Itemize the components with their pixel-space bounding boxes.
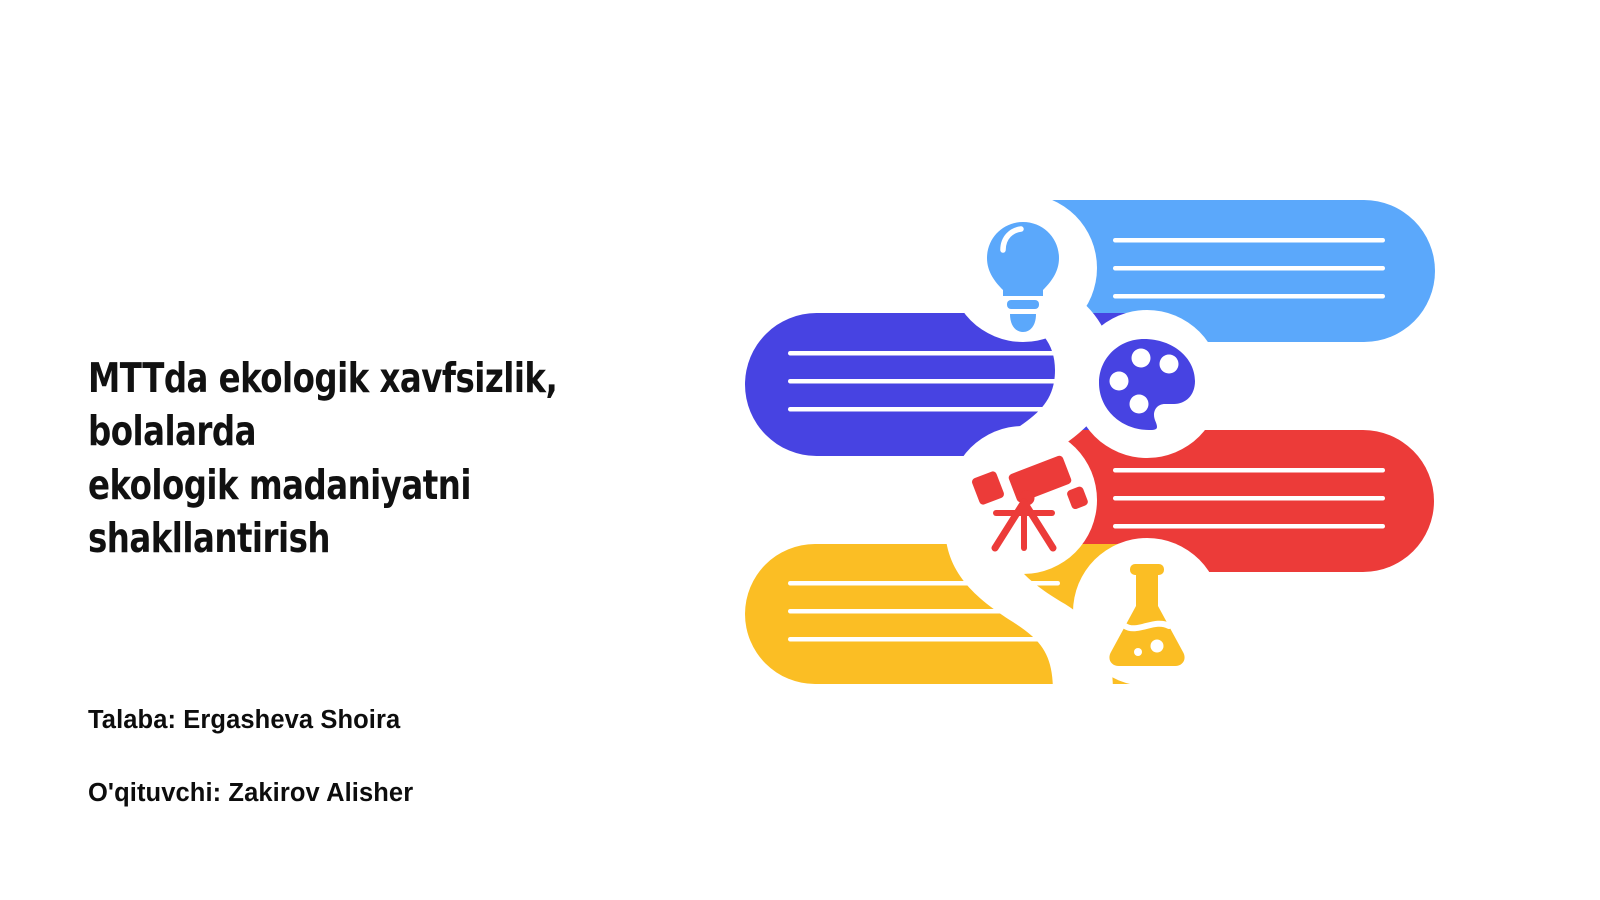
page-title: MTTda ekologik xavfsizlik, bolalarda eko… xyxy=(88,352,638,565)
zigzag-pill-infographic xyxy=(735,180,1455,700)
infographic-svg xyxy=(735,180,1455,700)
teacher-credit-line: O'qituvchi: Zakirov Alisher xyxy=(88,779,413,808)
student-credit-line: Talaba: Ergasheva Shoira xyxy=(88,706,400,735)
slide-canvas: MTTda ekologik xavfsizlik, bolalarda eko… xyxy=(0,0,1600,900)
text-column: MTTda ekologik xavfsizlik, bolalarda eko… xyxy=(88,0,728,900)
